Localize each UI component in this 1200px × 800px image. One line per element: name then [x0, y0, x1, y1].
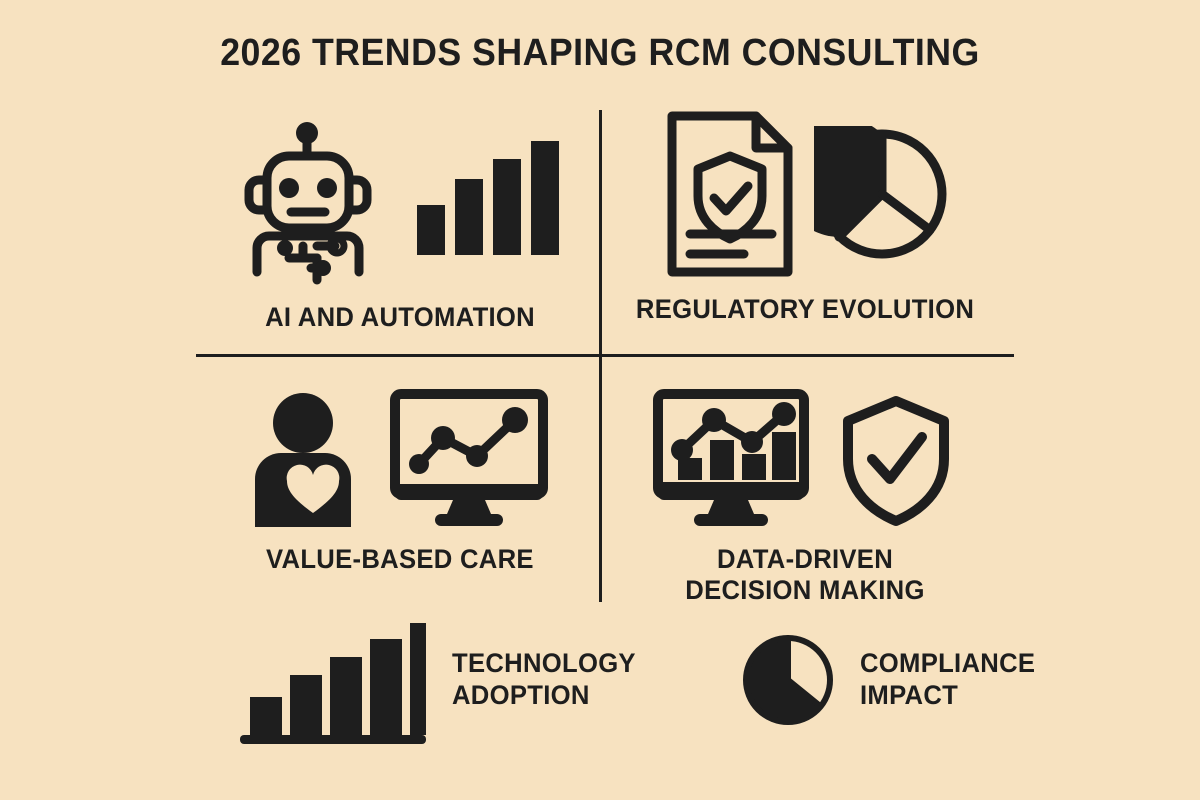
- shield-check-icon: [834, 391, 958, 527]
- infographic-canvas: 2026 Trends Shaping RCM Consulting: [0, 0, 1200, 800]
- item-label-line2: Impact: [860, 680, 958, 710]
- quadrant-label: Regulatory Evolution: [636, 294, 974, 325]
- bar-chart-icon: [409, 133, 559, 263]
- quadrant-icons: [241, 108, 559, 288]
- page-title: 2026 Trends Shaping RCM Consulting: [36, 32, 1164, 75]
- horizontal-divider: [196, 354, 1014, 357]
- monitor-line-chart-icon: [387, 388, 552, 530]
- quadrant-icons: [660, 108, 950, 280]
- pie-chart-icon: [814, 126, 950, 262]
- item-label: Technology Adoption: [452, 648, 636, 712]
- bottom-row: Technology Adoption Compliance Impact: [0, 615, 1200, 745]
- monitor-bar-line-chart-icon: [652, 388, 810, 530]
- robot-icon: [241, 108, 391, 288]
- quadrant-label: AI and Automation: [265, 302, 535, 333]
- item-label: Compliance Impact: [860, 648, 1035, 712]
- pie-chart-filled-icon: [742, 634, 834, 726]
- quadrant-icons: [652, 388, 958, 530]
- quadrant-label: Value-Based Care: [266, 544, 534, 575]
- document-shield-icon: [660, 108, 800, 280]
- quadrant-value-based-care[interactable]: Value-Based Care: [200, 388, 600, 575]
- quadrant-regulatory-evolution[interactable]: Regulatory Evolution: [600, 108, 1010, 325]
- quadrant-ai-and-automation[interactable]: AI and Automation: [200, 108, 600, 333]
- quadrant-icons: [249, 388, 552, 530]
- quadrant-label: Data-Driven Decision Making: [685, 544, 924, 607]
- item-label-line1: Technology: [452, 648, 636, 678]
- ascending-bar-chart-icon: [236, 615, 426, 745]
- item-label-line1: Compliance: [860, 648, 1035, 678]
- item-label-line2: Adoption: [452, 680, 590, 710]
- quadrant-data-driven-decision-making[interactable]: Data-Driven Decision Making: [600, 388, 1010, 607]
- quadrant-label-line2: Decision Making: [685, 575, 924, 605]
- quadrant-label-line1: Data-Driven: [717, 544, 893, 574]
- item-compliance-impact[interactable]: Compliance Impact: [742, 634, 1045, 726]
- person-heart-icon: [249, 391, 371, 527]
- item-technology-adoption[interactable]: Technology Adoption: [236, 615, 646, 745]
